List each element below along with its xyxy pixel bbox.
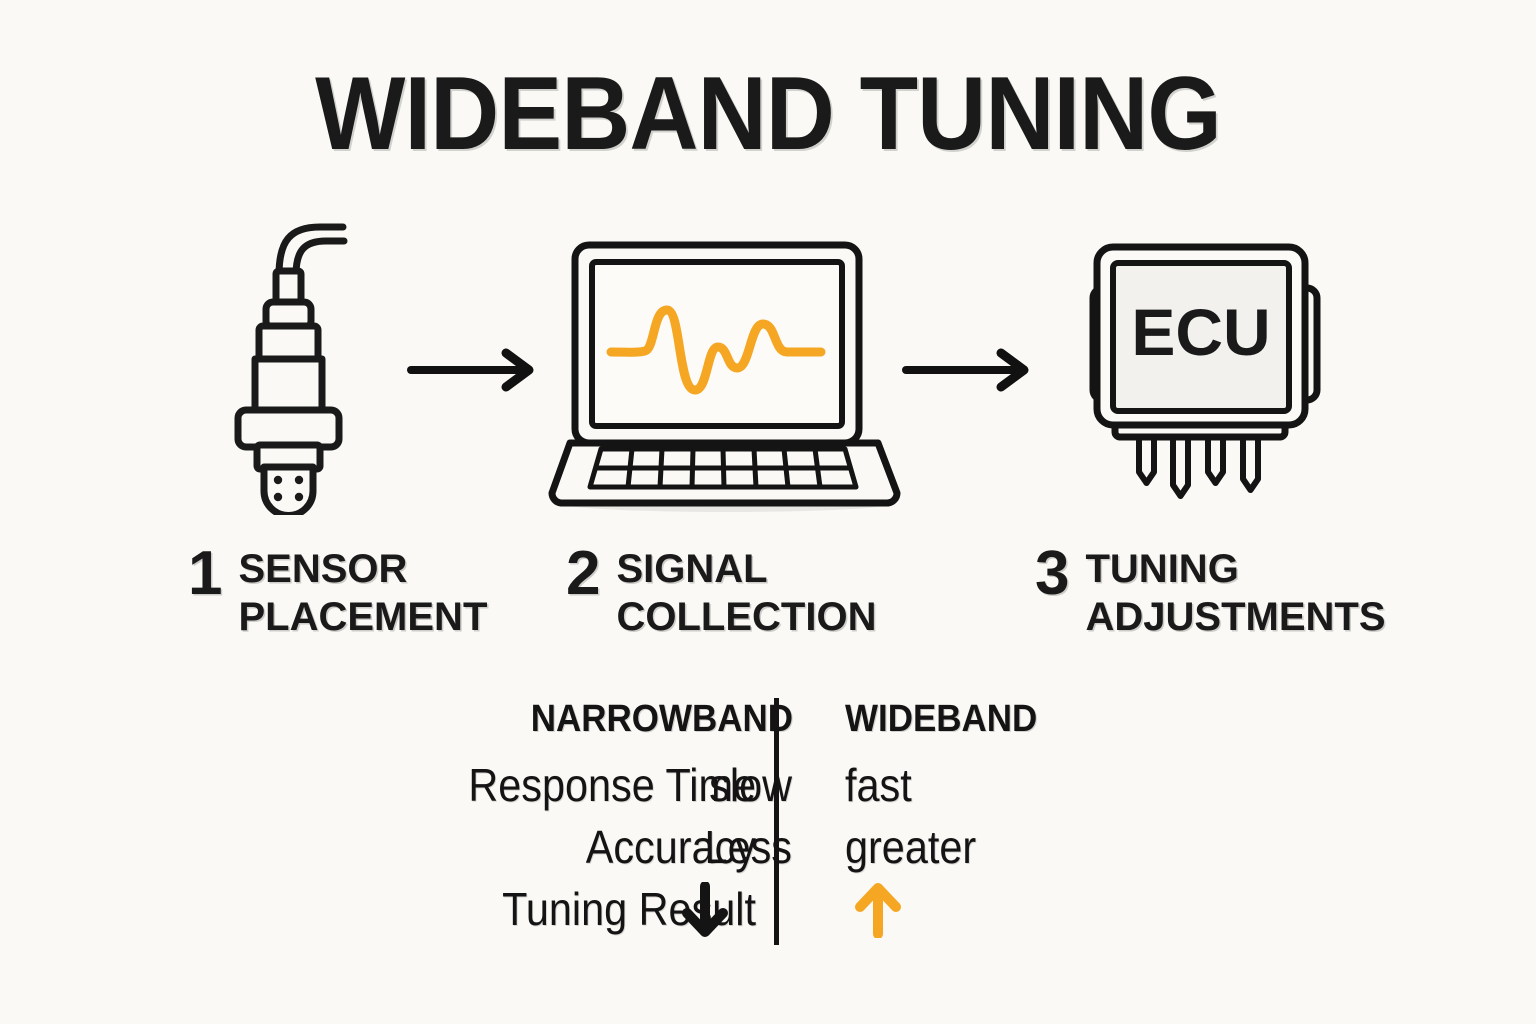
laptop-waveform-icon (545, 235, 905, 515)
step-caption-3: 3 TUNING ADJUSTMENTS (1035, 545, 1505, 641)
infographic-canvas: WIDEBAND TUNING (0, 0, 1536, 1024)
ecu-label: ECU (1131, 295, 1270, 369)
flow-arrow-1-icon (405, 345, 545, 395)
row-value-wideband-response-time: fast (845, 762, 1205, 808)
step-label-2: SIGNAL COLLECTION (616, 545, 876, 641)
step-label-3-line1: TUNING (1085, 547, 1238, 591)
step-label-3: TUNING ADJUSTMENTS (1085, 545, 1385, 641)
row-value-wideband-accuracy: greater (845, 824, 1205, 870)
step-label-1-line1: SENSOR (238, 547, 407, 591)
step-number-3: 3 (1035, 545, 1069, 603)
row-value-narrowband-accuracy: Less (558, 824, 792, 870)
step-caption-2: 2 SIGNAL COLLECTION (566, 545, 986, 641)
step-label-3-line2: ADJUSTMENTS (1085, 593, 1385, 641)
step-label-2-line1: SIGNAL (616, 547, 767, 591)
arrow-down-icon (678, 882, 732, 938)
step-number-1: 1 (188, 545, 222, 603)
flow-arrow-2-icon (900, 345, 1040, 395)
page-title: WIDEBAND TUNING (61, 62, 1474, 166)
row-value-narrowband-response-time: slow (558, 762, 792, 808)
step-caption-1: 1 SENSOR PLACEMENT (188, 545, 608, 641)
ecu-module-icon: ECU (1045, 235, 1365, 520)
step-label-1-line2: PLACEMENT (238, 593, 487, 641)
column-header-narrowband: NARROWBAND (531, 700, 793, 738)
oxygen-sensor-icon (228, 205, 418, 515)
step-number-2: 2 (566, 545, 600, 603)
step-label-1: SENSOR PLACEMENT (238, 545, 487, 641)
step-label-2-line2: COLLECTION (616, 593, 876, 641)
comparison-table: NARROWBAND WIDEBAND Response Time slow f… (0, 690, 1536, 950)
arrow-up-icon (851, 882, 905, 938)
column-header-wideband: WIDEBAND (845, 700, 1037, 738)
